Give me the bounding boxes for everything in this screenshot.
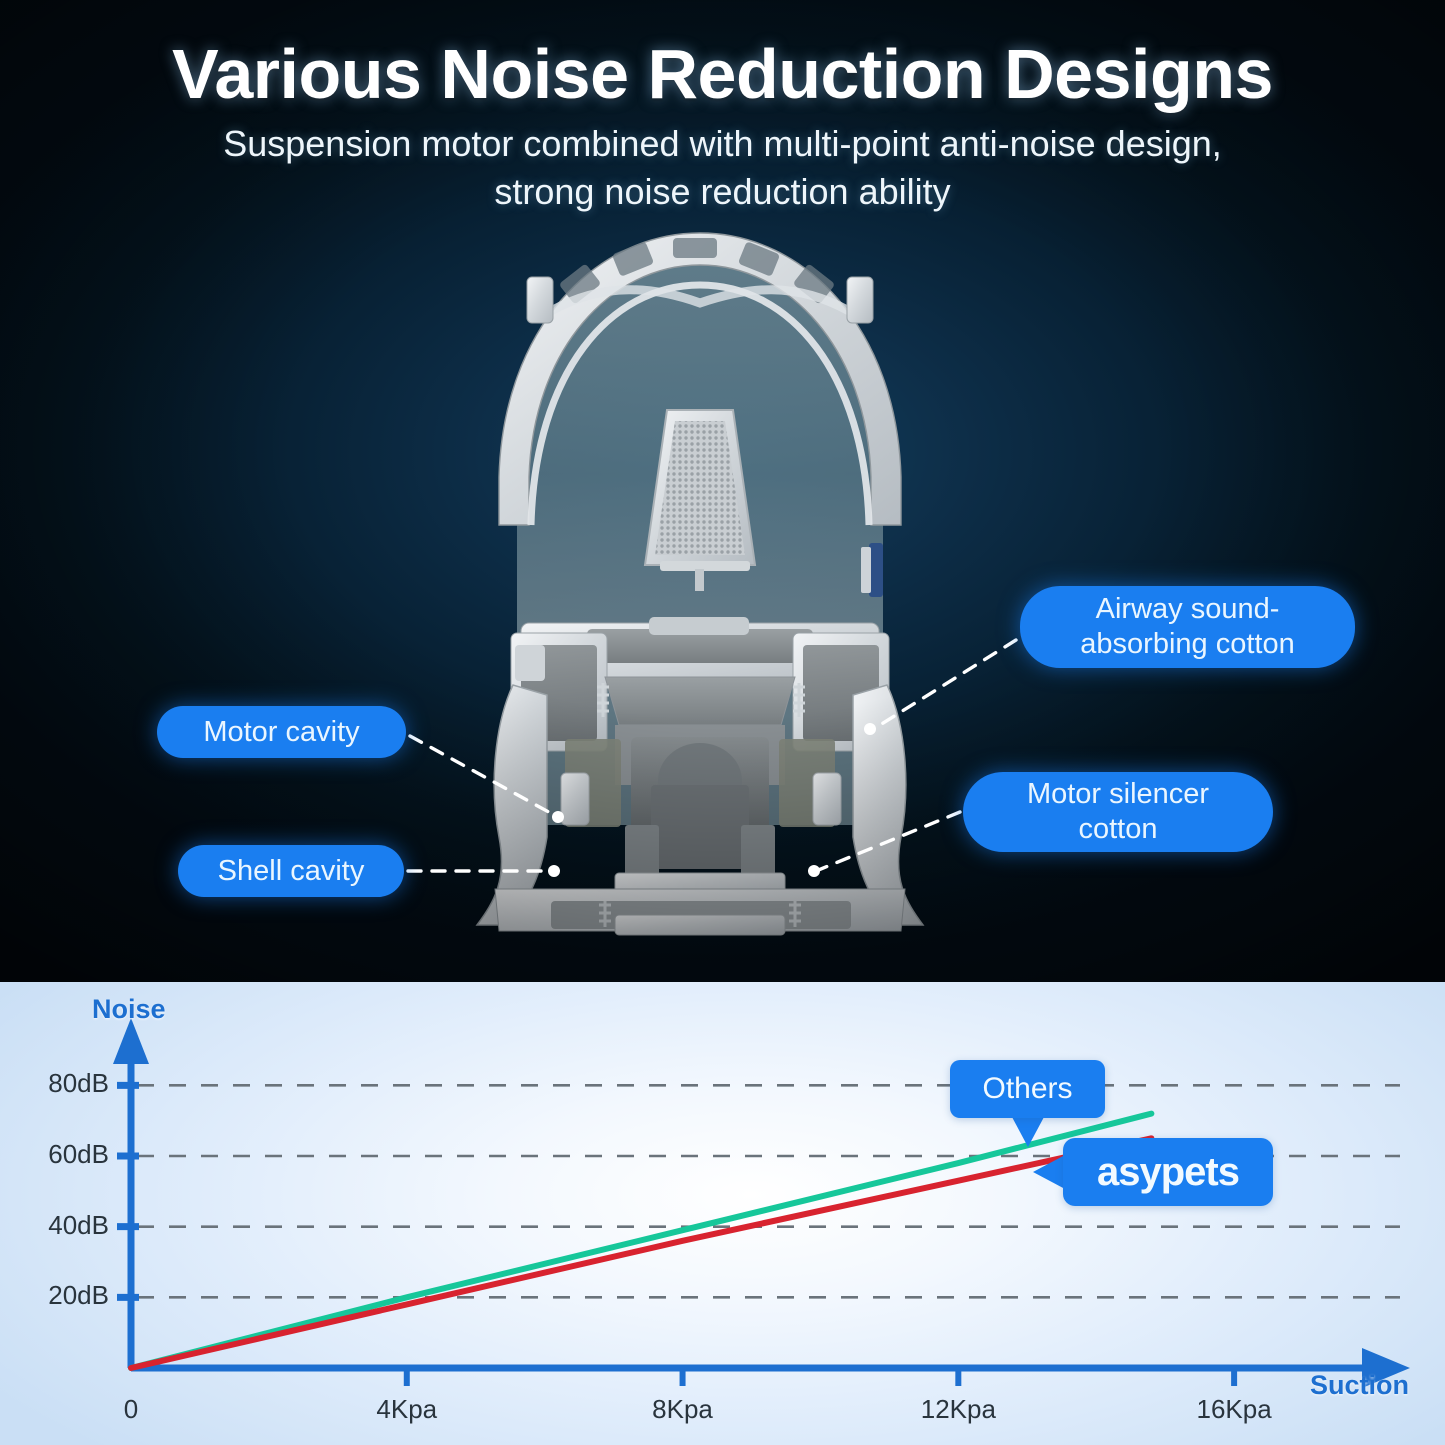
chart-series-lines — [131, 1114, 1151, 1368]
callout-motor-cavity: Motor cavity — [157, 706, 406, 758]
brand-callout-pointer — [1033, 1155, 1065, 1189]
x-tick-label: 4Kpa — [347, 1394, 467, 1425]
chart-canvas — [0, 982, 1445, 1445]
y-tick-label: 80dB — [19, 1068, 109, 1099]
others-callout-pointer — [1012, 1117, 1044, 1147]
promo-image-root: Various Noise Reduction Designs Suspensi… — [0, 0, 1445, 1445]
callout-airway-sound-absorbing-cotton: Airway sound-absorbing cotton — [1020, 586, 1355, 668]
noise-vs-suction-chart: Noise Suction 20dB40dB60dB80dB 04Kpa8Kpa… — [0, 982, 1445, 1445]
callout-motor-silencer-cotton: Motor silencer cotton — [963, 772, 1273, 852]
y-tick-label: 40dB — [19, 1210, 109, 1241]
page-subtitle: Suspension motor combined with multi-poi… — [0, 120, 1445, 215]
x-axis-title: Suction — [1310, 1370, 1409, 1401]
x-tick-label: 16Kpa — [1174, 1394, 1294, 1425]
product-cutaway-illustration — [455, 225, 945, 965]
x-tick-label: 8Kpa — [623, 1394, 743, 1425]
x-tick-label: 0 — [71, 1394, 191, 1425]
asypets-series-label: asypets — [1063, 1138, 1273, 1206]
subtitle-line-1: Suspension motor combined with multi-poi… — [0, 120, 1445, 168]
x-tick-label: 12Kpa — [898, 1394, 1018, 1425]
others-series-label: Others — [950, 1060, 1105, 1118]
callout-shell-cavity: Shell cavity — [178, 845, 404, 897]
hero-section: Various Noise Reduction Designs Suspensi… — [0, 0, 1445, 982]
y-tick-label: 60dB — [19, 1139, 109, 1170]
series-line-asypets — [131, 1138, 1151, 1368]
subtitle-line-2: strong noise reduction ability — [0, 168, 1445, 216]
page-title: Various Noise Reduction Designs — [0, 34, 1445, 114]
y-axis-title: Noise — [92, 994, 166, 1025]
y-tick-label: 20dB — [19, 1280, 109, 1311]
